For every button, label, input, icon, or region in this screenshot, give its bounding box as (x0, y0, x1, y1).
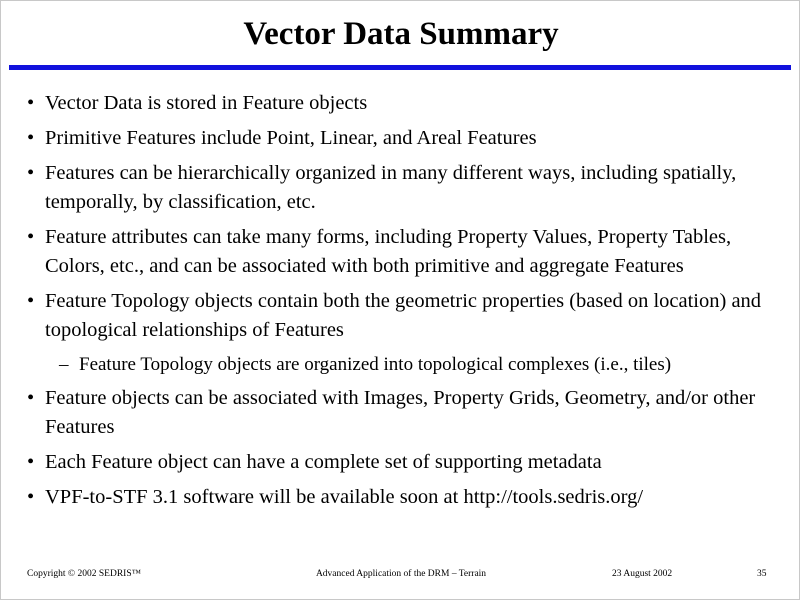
footer-page-number: 35 (757, 567, 767, 581)
sub-list-item-text: Feature Topology objects are organized i… (79, 351, 787, 379)
bullet-marker-icon: • (27, 483, 34, 512)
bullet-marker-icon: • (27, 448, 34, 477)
bullet-list: • Vector Data is stored in Feature objec… (1, 89, 800, 518)
slide-footer: Copyright © 2002 SEDRIS™ Advanced Applic… (1, 567, 800, 587)
list-item: • Feature objects can be associated with… (1, 384, 800, 442)
sub-list-item: – Feature Topology objects are organized… (1, 351, 800, 379)
list-item-text: Feature Topology objects contain both th… (45, 287, 777, 345)
list-item: • Feature attributes can take many forms… (1, 223, 800, 281)
footer-title: Advanced Application of the DRM – Terrai… (1, 567, 800, 581)
bullet-marker-icon: • (27, 384, 34, 413)
list-item: • Primitive Features include Point, Line… (1, 124, 800, 153)
list-item-text: Feature attributes can take many forms, … (45, 223, 777, 281)
list-item: • VPF-to-STF 3.1 software will be availa… (1, 483, 800, 512)
list-item-text: Feature objects can be associated with I… (45, 384, 777, 442)
page-title: Vector Data Summary (1, 15, 800, 53)
slide: Vector Data Summary • Vector Data is sto… (0, 0, 800, 600)
list-item-text: Vector Data is stored in Feature objects (45, 89, 777, 118)
bullet-marker-icon: • (27, 223, 34, 252)
list-item: • Vector Data is stored in Feature objec… (1, 89, 800, 118)
bullet-marker-icon: • (27, 124, 34, 153)
list-item: • Each Feature object can have a complet… (1, 448, 800, 477)
list-item: • Features can be hierarchically organiz… (1, 159, 800, 217)
list-item-text: VPF-to-STF 3.1 software will be availabl… (45, 483, 777, 512)
dash-marker-icon: – (59, 351, 69, 379)
bullet-marker-icon: • (27, 89, 34, 118)
footer-date: 23 August 2002 (612, 567, 672, 581)
list-item-text: Each Feature object can have a complete … (45, 448, 777, 477)
list-item: • Feature Topology objects contain both … (1, 287, 800, 345)
list-item-text: Primitive Features include Point, Linear… (45, 124, 777, 153)
bullet-marker-icon: • (27, 159, 34, 188)
list-item-text: Features can be hierarchically organized… (45, 159, 777, 217)
bullet-marker-icon: • (27, 287, 34, 316)
title-block: Vector Data Summary (1, 15, 800, 53)
title-divider (9, 65, 791, 70)
